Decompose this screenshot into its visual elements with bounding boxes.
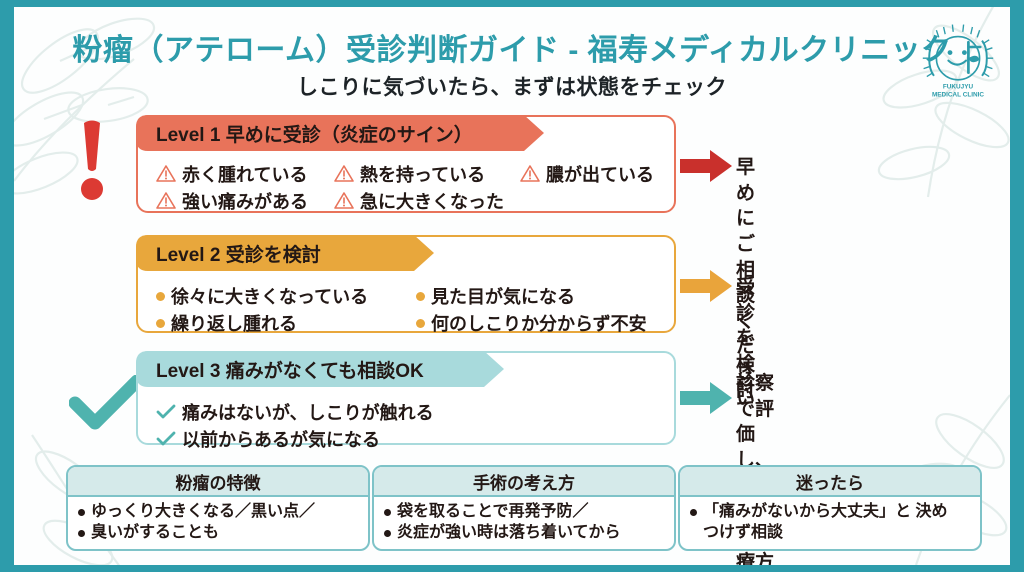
level-2-item: 徐々に大きくなっている <box>156 284 416 310</box>
level-3-item: 以前からあるが気になる <box>156 427 660 453</box>
dot-bullet-icon <box>384 530 391 537</box>
dot-bullet-icon <box>416 319 425 328</box>
dot-bullet-icon <box>156 319 165 328</box>
level-1-item-label: 熱を持っている <box>360 162 485 188</box>
level-1-arrow-icon <box>680 150 732 182</box>
page-title: 粉瘤（アテローム）受診判断ガイド - 福寿メディカルクリニック <box>14 25 1010 69</box>
warning-triangle-icon <box>156 191 176 210</box>
level-3-box: Level 3 痛みがなくても相談OK 痛みはないが、しこりが触れる 以前からあ… <box>136 351 676 445</box>
info-card-title: 粉瘤の特徴 <box>68 467 368 497</box>
info-card-body: 「痛みがないから大丈夫」と 決めつけず相談 <box>680 497 980 544</box>
card-list-item: 袋を取ることで再発予防／ <box>384 502 666 523</box>
level-3-item: 痛みはないが、しこりが触れる <box>156 400 660 426</box>
check-mark-icon <box>156 430 176 448</box>
level-1-items: 赤く腫れている 熱を持っている <box>138 155 674 216</box>
level-1-ribbon-label: Level 1 早めに受診（炎症のサイン） <box>138 117 548 150</box>
level-2-items: 徐々に大きくなっている 見た目が気になる 繰り返し腫れる 何のしこりか分からず不… <box>138 277 674 338</box>
infographic-poster: 粉瘤（アテローム）受診判断ガイド - 福寿メディカルクリニック しこりに気づいた… <box>0 0 1024 572</box>
info-card-body: 袋を取ることで再発予防／ 炎症が強い時は落ち着いてから <box>374 497 674 544</box>
level-1-item: 急に大きくなった <box>334 189 520 215</box>
level-3-ribbon-label: Level 3 痛みがなくても相談OK <box>138 353 508 386</box>
clinic-logo: FUKUJYU MEDICAL CLINIC <box>918 23 998 103</box>
poster-canvas: 粉瘤（アテローム）受診判断ガイド - 福寿メディカルクリニック しこりに気づいた… <box>14 7 1010 565</box>
logo-name-line2: MEDICAL CLINIC <box>932 92 984 99</box>
level-2-box: Level 2 受診を検討 徐々に大きくなっている 見た目が気になる 繰り返し腫… <box>136 235 676 333</box>
warning-triangle-icon <box>334 191 354 210</box>
info-card-surgery: 手術の考え方 袋を取ることで再発予防／ 炎症が強い時は落ち着いてから <box>372 465 676 551</box>
card-item-label: 「痛みがないから大丈夫」と 決めつけず相談 <box>703 502 951 544</box>
level-1-box: Level 1 早めに受診（炎症のサイン） 赤く腫れている <box>136 115 676 213</box>
warning-triangle-icon <box>334 164 354 183</box>
card-list-item: 臭いがすることも <box>78 523 360 544</box>
card-item-label: 臭いがすることも <box>91 523 219 544</box>
page-subtitle: しこりに気づいたら、まずは状態をチェック <box>14 71 1010 101</box>
level-1-item: 熱を持っている <box>334 162 520 188</box>
dot-bullet-icon <box>690 509 697 516</box>
level-1-item-label: 強い痛みがある <box>182 189 308 215</box>
level-1-item: 赤く腫れている <box>156 162 334 188</box>
level-2-item: 何のしこりか分からず不安 <box>416 311 656 337</box>
info-card-title: 手術の考え方 <box>374 467 674 497</box>
level-1-item: 膿が出ている <box>520 162 660 188</box>
dot-bullet-icon <box>78 509 85 516</box>
card-item-label: 炎症が強い時は落ち着いてから <box>397 523 621 544</box>
card-list-item: 炎症が強い時は落ち着いてから <box>384 523 666 544</box>
logo-name-line1: FUKUJYU <box>943 84 974 91</box>
dot-bullet-icon <box>416 292 425 301</box>
card-list-item: 「痛みがないから大丈夫」と 決めつけず相談 <box>690 502 972 544</box>
level-1-item: 強い痛みがある <box>156 189 334 215</box>
level-3-item-label: 痛みはないが、しこりが触れる <box>182 400 434 426</box>
level-3-item-label: 以前からあるが気になる <box>182 427 380 453</box>
level-2-item-label: 何のしこりか分からず不安 <box>431 311 647 337</box>
card-item-label: 袋を取ることで再発予防／ <box>397 502 589 523</box>
info-card-title: 迷ったら <box>680 467 980 497</box>
level-2-arrow-icon <box>680 270 732 302</box>
warning-triangle-icon <box>156 164 176 183</box>
level-3-arrow-icon <box>680 382 732 414</box>
level-1-item-label: 膿が出ている <box>546 162 654 188</box>
level-2-item-label: 繰り返し腫れる <box>171 311 297 337</box>
dot-bullet-icon <box>384 509 391 516</box>
info-card-body: ゆっくり大きくなる／黒い点／ 臭いがすることも <box>68 497 368 544</box>
level-2-item-label: 徐々に大きくなっている <box>171 284 368 310</box>
exclamation-mark-icon <box>74 119 110 210</box>
card-list-item: ゆっくり大きくなる／黒い点／ <box>78 502 360 523</box>
check-mark-icon <box>156 403 176 421</box>
level-2-item-label: 見た目が気になる <box>431 284 575 310</box>
check-mark-icon-large <box>69 375 143 436</box>
level-3-items: 痛みはないが、しこりが触れる 以前からあるが気になる <box>138 393 674 454</box>
dot-bullet-icon <box>156 292 165 301</box>
info-card-unsure: 迷ったら 「痛みがないから大丈夫」と 決めつけず相談 <box>678 465 982 551</box>
card-item-label: ゆっくり大きくなる／黒い点／ <box>91 502 315 523</box>
warning-triangle-icon <box>520 164 540 183</box>
level-1-item-label: 赤く腫れている <box>182 162 307 188</box>
level-1-item-label: 急に大きくなった <box>360 189 504 215</box>
level-2-ribbon-label: Level 2 受診を検討 <box>138 237 438 270</box>
level-2-item: 見た目が気になる <box>416 284 656 310</box>
dot-bullet-icon <box>78 530 85 537</box>
level-2-item: 繰り返し腫れる <box>156 311 416 337</box>
info-card-features: 粉瘤の特徴 ゆっくり大きくなる／黒い点／ 臭いがすることも <box>66 465 370 551</box>
